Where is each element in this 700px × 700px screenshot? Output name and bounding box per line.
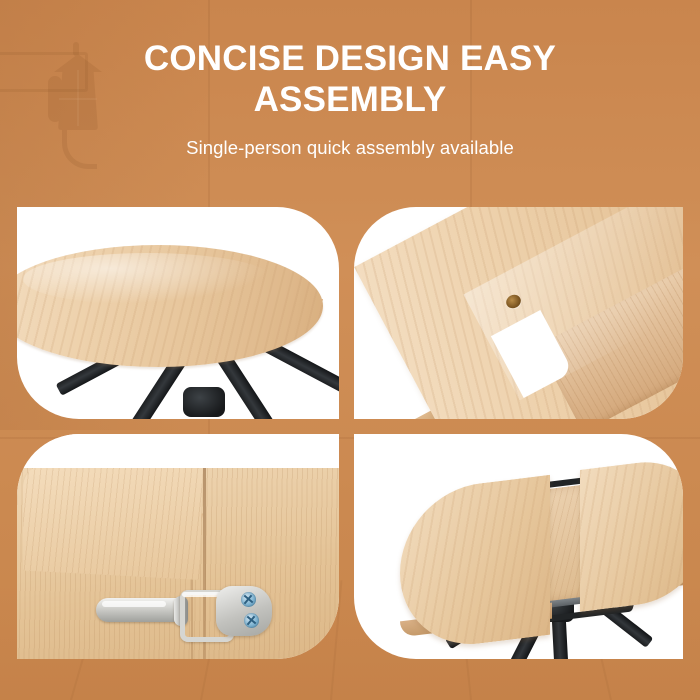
header: CONCISE DESIGN EASY ASSEMBLY Single-pers… (0, 0, 700, 159)
tabletop-highlight (23, 253, 273, 305)
panel-top-whitespace (17, 434, 339, 468)
tabletop-half-right (580, 454, 683, 612)
panel-extended-table[interactable] (354, 434, 683, 659)
page-subtitle: Single-person quick assembly available (0, 120, 700, 159)
page-title: CONCISE DESIGN EASY ASSEMBLY (0, 0, 700, 120)
tabletop-leaf-left (23, 462, 203, 580)
latch-lever-highlight (102, 601, 166, 607)
panel-board-corner[interactable] (354, 207, 683, 419)
banner-root: CONCISE DESIGN EASY ASSEMBLY Single-pers… (0, 0, 700, 700)
photo-panel-grid (17, 207, 683, 659)
panel-round-tabletop[interactable] (17, 207, 339, 419)
table-base-hub (183, 387, 225, 417)
tabletop-half-left (400, 475, 550, 653)
